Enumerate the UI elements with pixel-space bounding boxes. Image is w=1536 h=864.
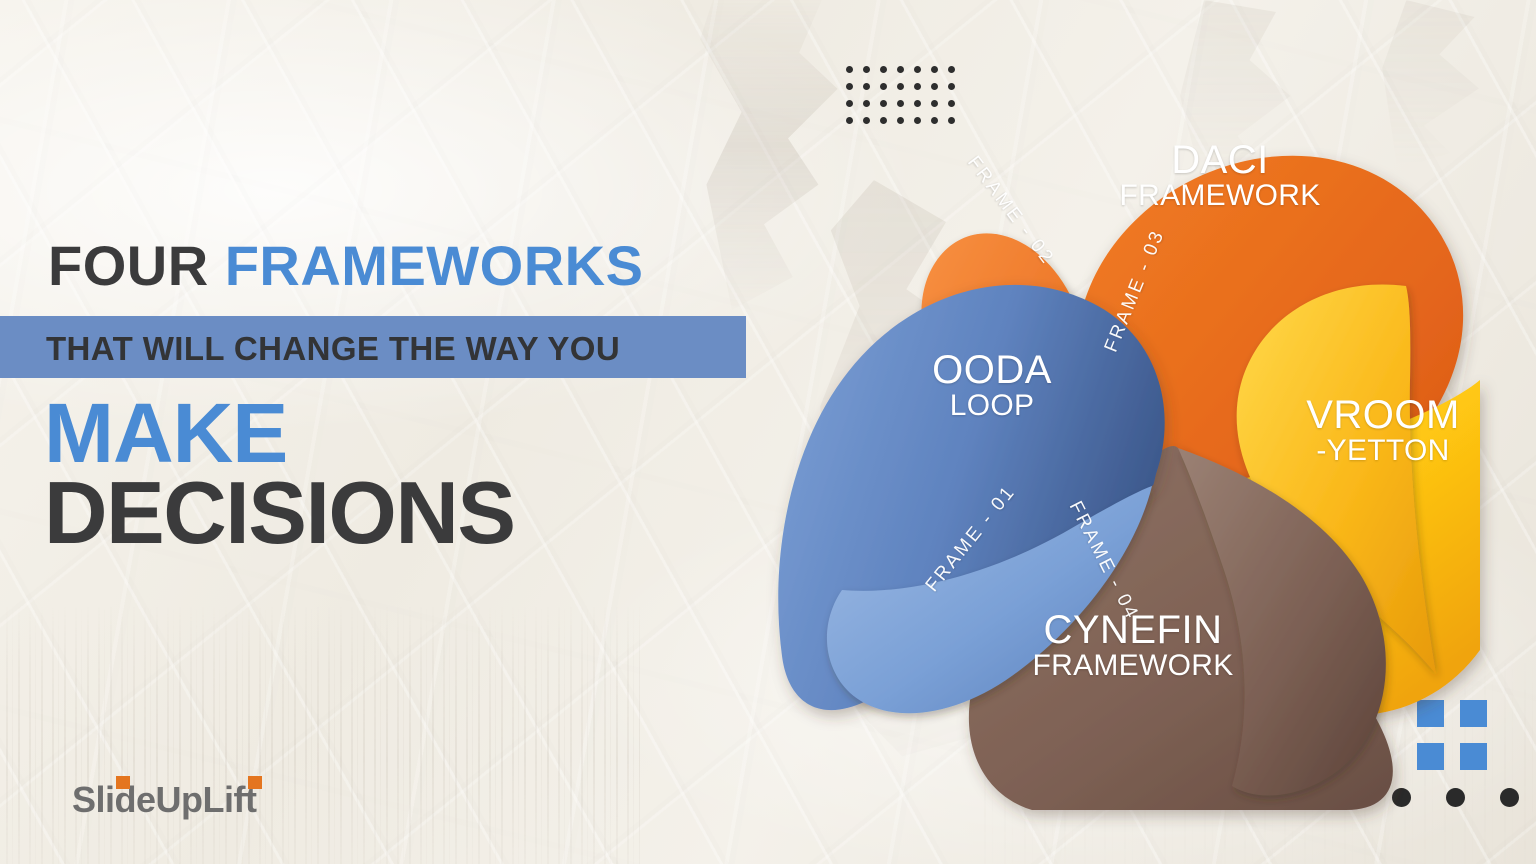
brand-logo[interactable]: SlideUpLift	[72, 779, 256, 821]
headline-line-4-decisions: DECISIONS	[44, 472, 515, 555]
logo-orange-dot-i2	[248, 776, 262, 789]
brand-logo-text: SlideUpLift	[72, 779, 256, 820]
headline-word-four: FOUR	[48, 234, 225, 297]
pinwheel-svg	[780, 50, 1480, 810]
streak-texture-left	[0, 604, 640, 864]
headline-line-3-make: MAKE	[44, 394, 287, 473]
headline-block: FOUR FRAMEWORKS	[48, 238, 748, 294]
logo-orange-dot-i1	[116, 776, 130, 789]
framework-pinwheel-diagram: OODA LOOP DACI FRAMEWORK VROOM -YETTON C…	[780, 50, 1480, 810]
decor-dot	[1500, 788, 1519, 807]
headline-word-frameworks: FRAMEWORKS	[225, 234, 644, 297]
headline-line-2: THAT WILL CHANGE THE WAY YOU	[46, 330, 620, 368]
slide-canvas: FOUR FRAMEWORKS THAT WILL CHANGE THE WAY…	[0, 0, 1536, 864]
headline-line-1: FOUR FRAMEWORKS	[48, 238, 748, 294]
